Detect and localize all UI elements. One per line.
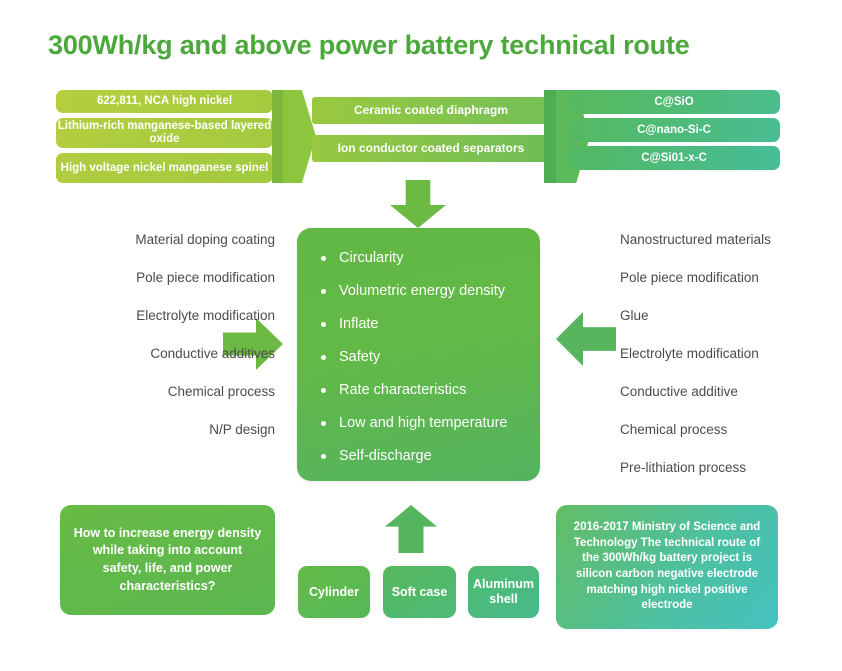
- top-banner: 622,811, NCA high nickel Lithium-rich ma…: [0, 86, 842, 182]
- metric-item: Safety: [319, 341, 540, 374]
- metric-item: Volumetric energy density: [319, 275, 540, 308]
- left-factor-list: Material doping coating Pole piece modif…: [0, 221, 275, 449]
- page-title: 300Wh/kg and above power battery technic…: [48, 30, 690, 61]
- left-list-item: Material doping coating: [0, 221, 275, 259]
- right-list-item: Chemical process: [620, 411, 842, 449]
- cathode-item-2[interactable]: Lithium-rich manganese-based layered oxi…: [56, 118, 273, 148]
- left-list-item: Electrolyte modification: [0, 297, 275, 335]
- right-list-item: Glue: [620, 297, 842, 335]
- form-factor-soft-case[interactable]: Soft case: [383, 566, 456, 618]
- metric-item: Inflate: [319, 308, 540, 341]
- chevron-connector-right-shadow-icon: [544, 90, 556, 183]
- cathode-item-1[interactable]: 622,811, NCA high nickel: [56, 90, 273, 113]
- arrow-up-icon: [385, 505, 437, 553]
- right-list-item: Pre-lithiation process: [620, 449, 842, 487]
- metric-item: Low and high temperature: [319, 407, 540, 440]
- cathode-item-3[interactable]: High voltage nickel manganese spinel: [56, 153, 273, 183]
- arrow-down-icon: [390, 180, 446, 228]
- anode-item-2[interactable]: C@nano-Si-C: [568, 118, 780, 142]
- form-factor-aluminum-shell[interactable]: Aluminum shell: [468, 566, 539, 618]
- metric-item: Self-discharge: [319, 440, 540, 473]
- left-list-item: Chemical process: [0, 373, 275, 411]
- ministry-note-box: 2016-2017 Ministry of Science and Techno…: [556, 505, 778, 629]
- chevron-connector-left-shadow-icon: [272, 90, 283, 183]
- left-list-item: Pole piece modification: [0, 259, 275, 297]
- performance-metrics-box: Circularity Volumetric energy density In…: [297, 228, 540, 481]
- performance-metrics-list: Circularity Volumetric energy density In…: [297, 242, 540, 473]
- right-list-item: Nanostructured materials: [620, 221, 842, 259]
- left-list-item: Conductive additives: [0, 335, 275, 373]
- question-box: How to increase energy density while tak…: [60, 505, 275, 615]
- right-factor-list: Nanostructured materials Pole piece modi…: [620, 221, 842, 487]
- left-list-item: N/P design: [0, 411, 275, 449]
- diagram-canvas: 300Wh/kg and above power battery technic…: [0, 0, 842, 671]
- anode-item-3[interactable]: C@Si01-x-C: [568, 146, 780, 170]
- right-list-item: Conductive additive: [620, 373, 842, 411]
- separator-item-2[interactable]: Ion conductor coated separators: [312, 135, 550, 162]
- separator-item-1[interactable]: Ceramic coated diaphragm: [312, 97, 550, 124]
- metric-item: Rate characteristics: [319, 374, 540, 407]
- arrow-left-icon: [556, 312, 616, 366]
- right-list-item: Electrolyte modification: [620, 335, 842, 373]
- anode-item-1[interactable]: C@SiO: [568, 90, 780, 114]
- metric-item: Circularity: [319, 242, 540, 275]
- form-factor-cylinder[interactable]: Cylinder: [298, 566, 370, 618]
- right-list-item: Pole piece modification: [620, 259, 842, 297]
